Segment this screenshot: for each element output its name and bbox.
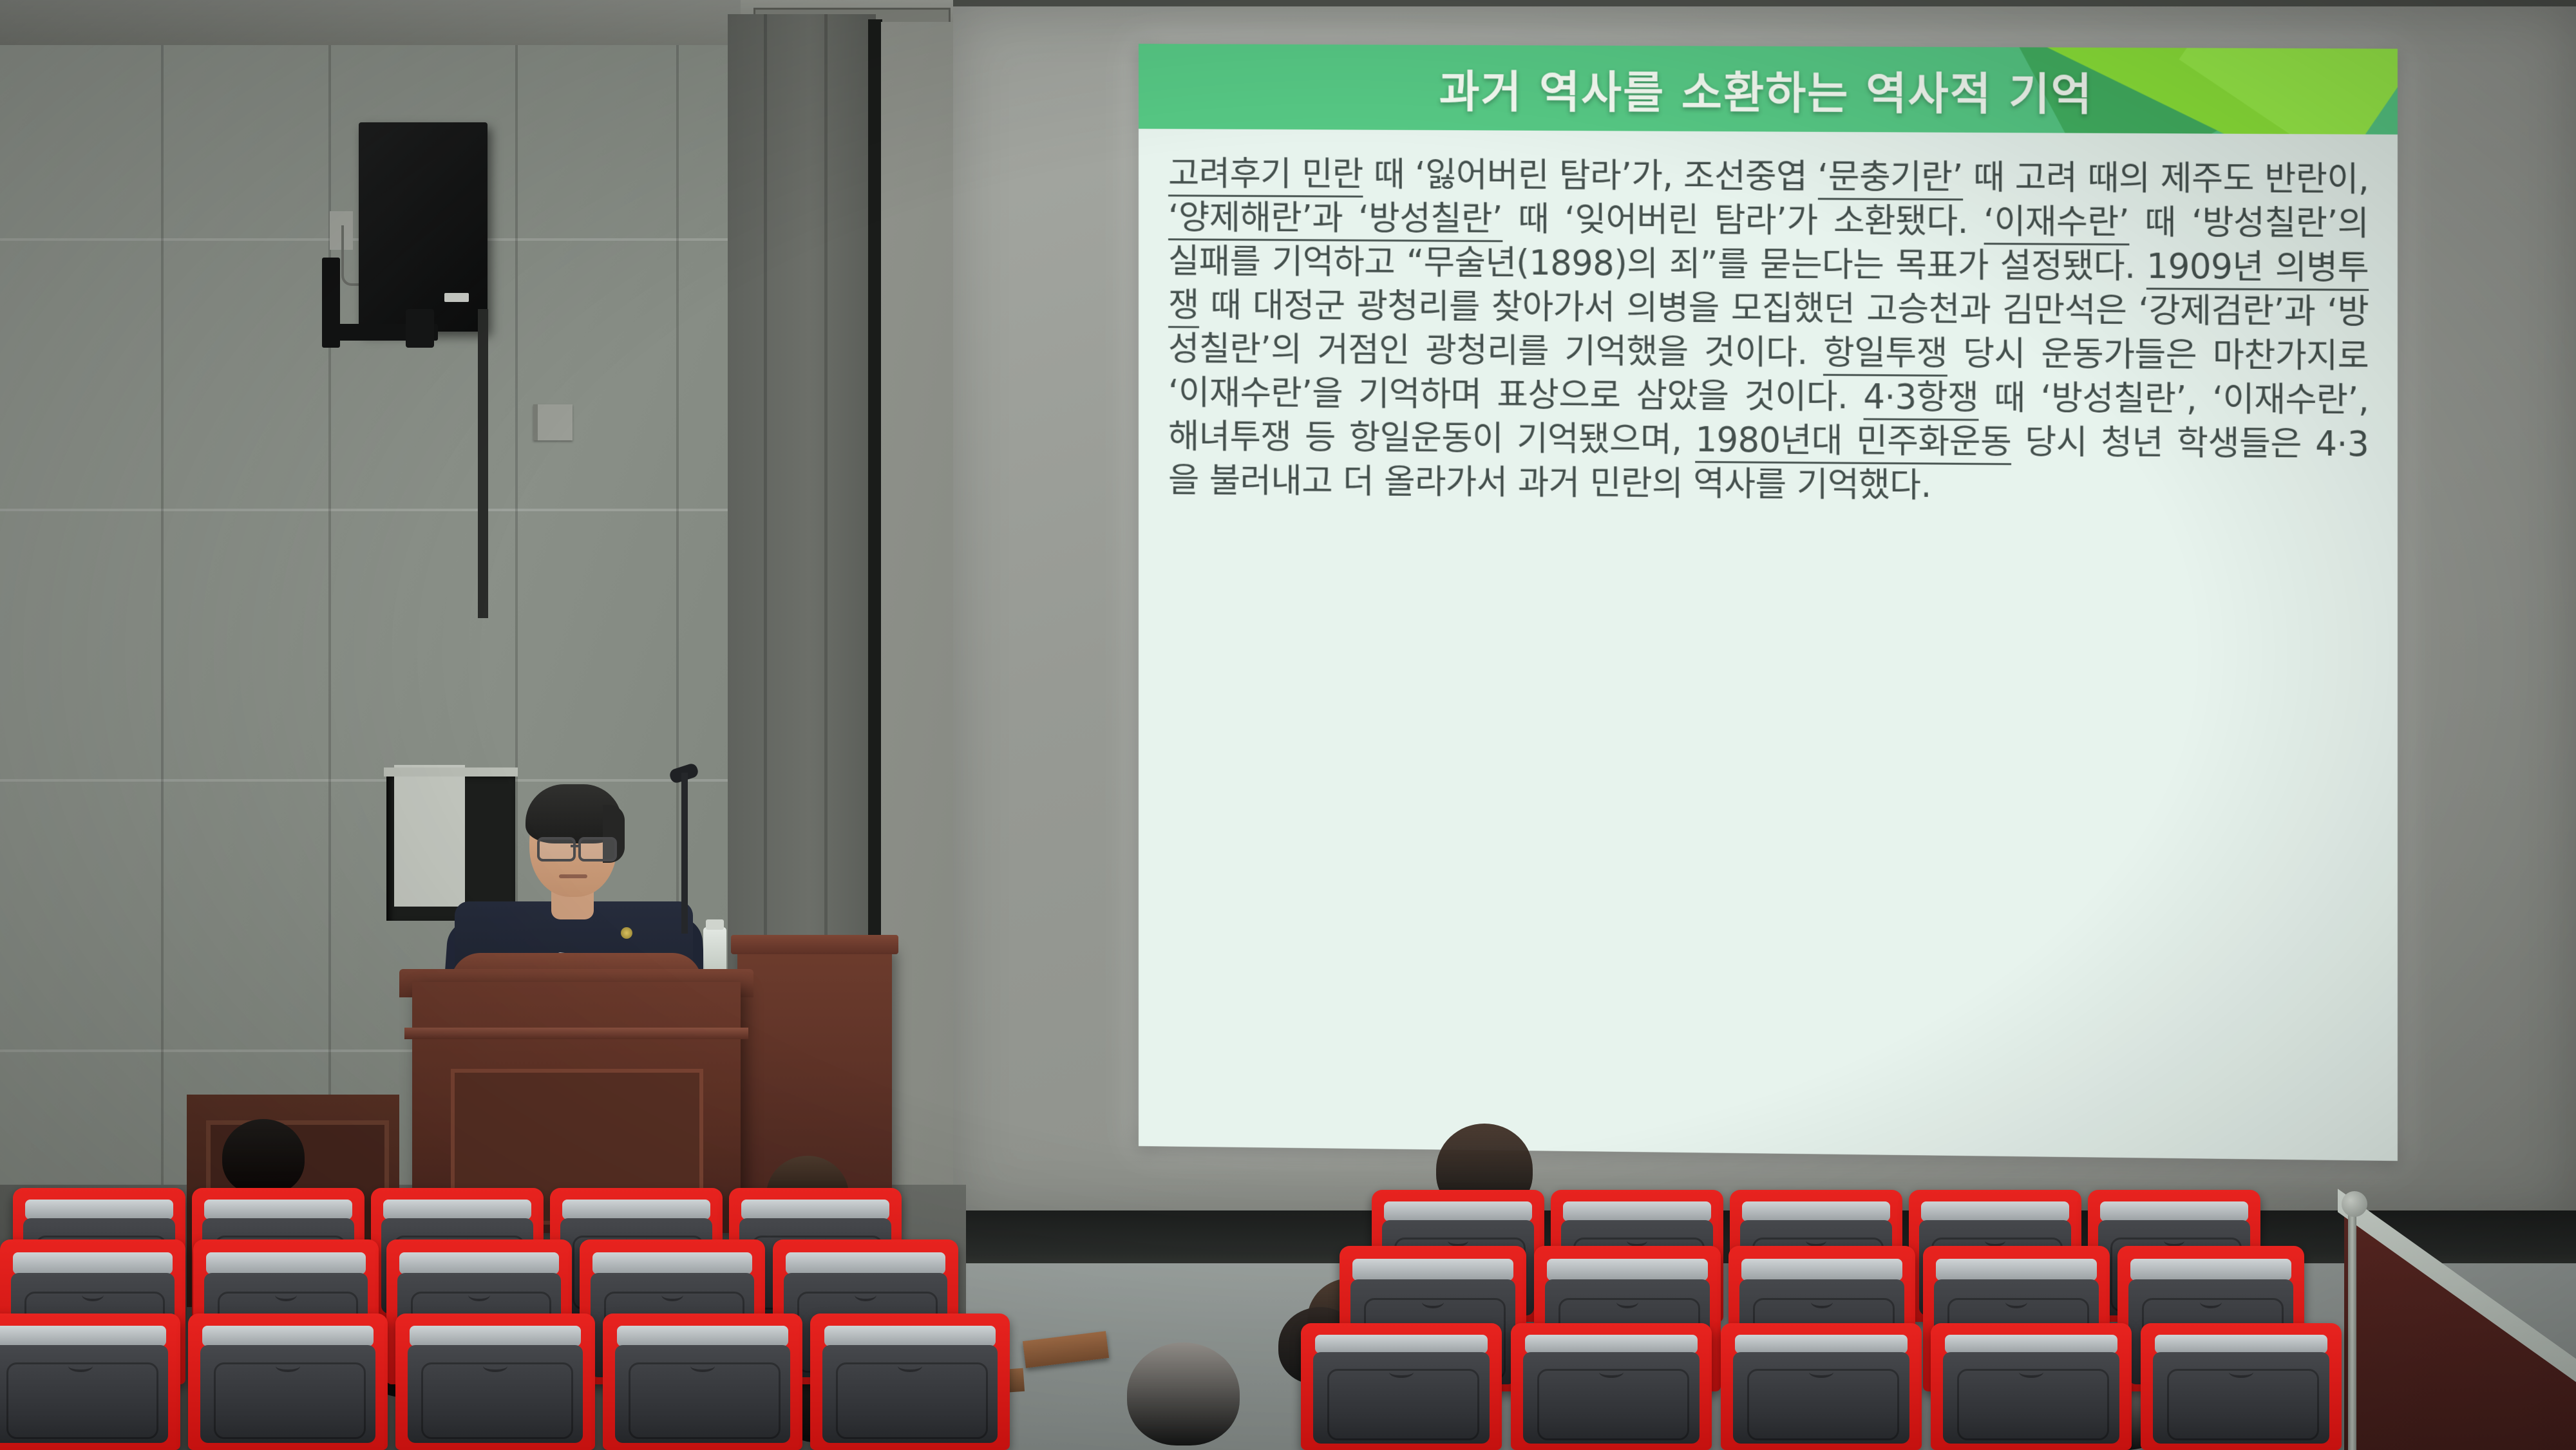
highlighted-term: ‘문충기란’: [1817, 157, 1962, 200]
seat-headrest-band: [383, 1200, 531, 1219]
wall-outlet-plate[interactable]: [533, 404, 573, 440]
seat-notch: [1627, 1235, 1647, 1247]
wall-alcove-lip: [384, 767, 518, 777]
highlighted-term: ‘양제해란’과 ‘방성칠란’: [1168, 198, 1502, 242]
vertical-pole: [478, 309, 488, 618]
audience-member: [222, 1119, 305, 1195]
seat-headrest-band: [204, 1200, 352, 1219]
eyeglasses-icon: [578, 837, 617, 862]
auditorium-seat[interactable]: [395, 1313, 595, 1450]
seat-headrest-band: [1735, 1335, 1908, 1354]
lecture-hall-photo: 과거 역사를 소환하는 역사적 기억 고려후기 민란 때 ‘잃어버린 탐라’가,…: [0, 0, 2576, 1450]
seat-notch: [1809, 1366, 1833, 1378]
auditorium-seat[interactable]: [188, 1313, 388, 1450]
seat-headrest-band: [1741, 1259, 1902, 1281]
seat-headrest-band: [617, 1326, 789, 1346]
seat-notch: [1448, 1235, 1468, 1247]
speaker-bracket-joint: [406, 309, 434, 348]
highlighted-term: ‘이재수란’: [1984, 202, 2129, 246]
seat-headrest-band: [1352, 1259, 1513, 1281]
auditorium-seat[interactable]: [1931, 1323, 2132, 1450]
auditorium-seat[interactable]: [810, 1313, 1010, 1450]
seat-headrest-band: [786, 1252, 945, 1274]
seat-headrest-band: [0, 1326, 166, 1346]
seat-headrest-band: [1945, 1335, 2117, 1354]
seat-notch: [276, 1360, 299, 1372]
auditorium-seat[interactable]: [0, 1313, 180, 1450]
audience-member: [1127, 1342, 1240, 1445]
seat-notch: [1811, 1295, 1833, 1308]
presentation-slide: 과거 역사를 소환하는 역사적 기억 고려후기 민란 때 ‘잃어버린 탐라’가,…: [1139, 44, 2398, 1161]
handrail-post: [2348, 1199, 2356, 1450]
seat-headrest-band: [1742, 1201, 1890, 1221]
body-text-run: 때 ‘잃어버린 탐라’가, 조선중엽: [1363, 155, 1818, 197]
loudspeaker-brand-logo: [444, 293, 469, 302]
seat-notch: [1422, 1295, 1444, 1308]
seat-headrest-band: [1921, 1201, 2069, 1221]
podium-moulding: [404, 1028, 748, 1039]
seat-notch: [483, 1360, 507, 1372]
seat-headrest-band: [1315, 1335, 1488, 1354]
eyeglasses-bridge: [571, 845, 580, 847]
seat-headrest-band: [399, 1252, 559, 1274]
seat-headrest-band: [25, 1200, 173, 1219]
auditorium-seat[interactable]: [2141, 1323, 2342, 1450]
seat-notch: [2019, 1366, 2043, 1378]
slide-title: 과거 역사를 소환하는 역사적 기억: [1139, 44, 2398, 135]
seat-notch: [690, 1360, 714, 1372]
lapel-pin-icon: [621, 927, 632, 939]
slide-body-text: 고려후기 민란 때 ‘잃어버린 탐라’가, 조선중엽 ‘문충기란’ 때 고려 때…: [1168, 152, 2369, 511]
auditorium-seat[interactable]: [1301, 1323, 1502, 1450]
seat-headrest-band: [741, 1200, 889, 1219]
auditorium-seat[interactable]: [603, 1313, 802, 1450]
seat-notch: [1806, 1235, 1826, 1247]
seat-notch: [2229, 1366, 2253, 1378]
highlighted-term: 고려후기 민란: [1168, 154, 1363, 198]
seat-notch: [1616, 1295, 1639, 1308]
wall-alcove-inner: [394, 765, 465, 907]
seat-headrest-band: [206, 1252, 366, 1274]
highlighted-term: 항일투쟁: [1823, 333, 1947, 377]
seat-notch: [1599, 1366, 1623, 1378]
seat-notch: [2005, 1295, 2028, 1308]
body-text-run: 때 고려 때의 제주도 반란이,: [1963, 158, 2369, 200]
seat-headrest-band: [2155, 1335, 2327, 1354]
eyeglasses-icon: [537, 837, 576, 862]
seat-headrest-band: [1936, 1259, 2096, 1281]
seat-notch: [68, 1360, 92, 1372]
seat-headrest-band: [592, 1252, 752, 1274]
seat-headrest-band: [202, 1326, 374, 1346]
side-table-top: [731, 935, 898, 954]
highlighted-term: 4·3항쟁: [1863, 377, 1978, 421]
water-bottle-cap: [706, 919, 724, 930]
seat-headrest-band: [410, 1326, 582, 1346]
auditorium-seat[interactable]: [1511, 1323, 1712, 1450]
seat-headrest-band: [2130, 1259, 2291, 1281]
handrail-end-knob: [2342, 1191, 2367, 1217]
highlighted-term: 1980년대 민주화운동: [1695, 420, 2011, 466]
seat-notch: [2164, 1235, 2184, 1247]
seat-headrest-band: [1547, 1259, 1707, 1281]
seat-headrest-band: [562, 1200, 710, 1219]
seat-notch: [898, 1360, 922, 1372]
mic-stand: [681, 773, 688, 934]
seat-notch: [2200, 1295, 2222, 1308]
seat-headrest-band: [1563, 1201, 1711, 1221]
auditorium-seat[interactable]: [1721, 1323, 1922, 1450]
seat-notch: [1389, 1366, 1413, 1378]
seat-headrest-band: [1384, 1201, 1532, 1221]
seat-notch: [1985, 1235, 2005, 1247]
seat-headrest-band: [1525, 1335, 1698, 1354]
seat-headrest-band: [824, 1326, 996, 1346]
presenter-mouth: [559, 874, 587, 878]
seat-headrest-band: [13, 1252, 173, 1274]
seat-headrest-band: [2100, 1201, 2248, 1221]
body-text-run: 때 ‘잊어버린 탐라’가 소환됐다.: [1502, 200, 1984, 241]
